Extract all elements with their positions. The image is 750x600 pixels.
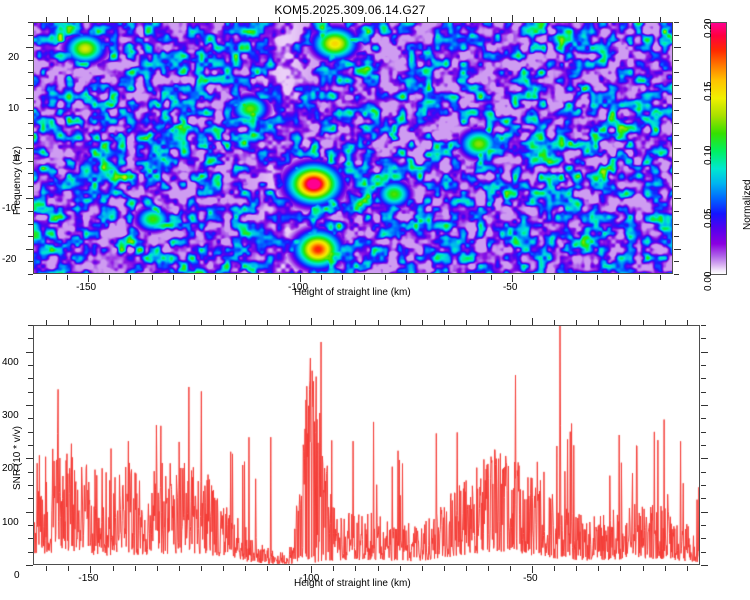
- axis-tick: [674, 173, 679, 174]
- axis-tick: [674, 186, 679, 187]
- axis-tick: [300, 275, 301, 282]
- axis-tick: [321, 275, 322, 280]
- axis-tick: [674, 198, 681, 199]
- axis-tick: [488, 320, 489, 325]
- axis-tick: [674, 161, 679, 162]
- axis-tick: [289, 566, 290, 571]
- axis-tick-label: -150: [76, 282, 96, 293]
- axis-tick: [674, 110, 679, 111]
- axis-tick: [406, 275, 407, 280]
- page-title: KOM5.2025.309.06.14.G27: [0, 3, 700, 17]
- axis-tick: [67, 275, 68, 280]
- colorbar-tick-label: 0.20: [703, 19, 714, 38]
- axis-tick: [406, 17, 407, 22]
- axis-tick: [618, 275, 619, 280]
- axis-tick: [674, 123, 679, 124]
- axis-tick: [466, 320, 467, 325]
- axis-tick: [135, 566, 136, 571]
- axis-tick: [701, 512, 708, 513]
- axis-tick-label: 400: [2, 357, 19, 368]
- axis-tick: [674, 274, 679, 275]
- axis-tick: [46, 320, 47, 325]
- axis-tick: [300, 15, 301, 22]
- axis-tick: [28, 173, 33, 174]
- axis-tick: [28, 472, 33, 473]
- axis-tick: [26, 405, 33, 406]
- axis-tick: [597, 17, 598, 22]
- axis-tick: [130, 275, 131, 280]
- axis-tick: [245, 320, 246, 325]
- axis-tick: [28, 135, 33, 136]
- axis-tick: [46, 275, 47, 280]
- axis-tick: [639, 275, 640, 280]
- axis-tick: [215, 17, 216, 22]
- axis-tick: [173, 17, 174, 22]
- axis-tick: [157, 320, 158, 325]
- axis-tick: [28, 325, 33, 326]
- axis-tick: [532, 566, 533, 573]
- axis-tick: [701, 392, 706, 393]
- axis-tick: [152, 275, 153, 280]
- axis-tick: [364, 17, 365, 22]
- axis-tick: [26, 352, 33, 353]
- axis-tick: [701, 525, 706, 526]
- axis-tick: [201, 320, 202, 325]
- axis-tick: [90, 566, 91, 573]
- axis-tick: [674, 224, 679, 225]
- axis-tick: [28, 432, 33, 433]
- axis-tick: [28, 123, 33, 124]
- spectrogram-y-axis-label: Frequency (Hz): [12, 146, 23, 215]
- axis-tick: [28, 552, 33, 553]
- axis-tick: [701, 485, 706, 486]
- axis-tick: [532, 318, 533, 325]
- axis-tick: [179, 320, 180, 325]
- axis-tick: [427, 275, 428, 280]
- axis-tick: [554, 566, 555, 571]
- axis-tick: [488, 566, 489, 571]
- axis-tick: [660, 17, 661, 22]
- axis-tick: [311, 318, 312, 325]
- axis-tick: [597, 275, 598, 280]
- snr-x-axis-label: Height of straight line (km): [294, 578, 411, 589]
- axis-tick: [28, 445, 33, 446]
- axis-tick: [701, 472, 706, 473]
- axis-tick: [533, 275, 534, 280]
- axis-tick: [26, 198, 33, 199]
- axis-tick: [28, 85, 33, 86]
- axis-tick: [620, 566, 621, 571]
- axis-tick: [215, 275, 216, 280]
- axis-tick: [355, 320, 356, 325]
- axis-tick: [88, 15, 89, 22]
- axis-tick: [701, 432, 706, 433]
- axis-tick: [28, 538, 33, 539]
- axis-tick: [701, 378, 706, 379]
- axis-tick: [618, 17, 619, 22]
- axis-tick: [109, 275, 110, 280]
- axis-tick: [26, 458, 33, 459]
- axis-tick-label: 10: [8, 103, 19, 114]
- axis-tick: [378, 320, 379, 325]
- axis-tick: [400, 320, 401, 325]
- axis-tick: [67, 17, 68, 22]
- axis-tick: [491, 275, 492, 280]
- axis-tick: [701, 445, 706, 446]
- axis-tick-label: 20: [8, 52, 19, 63]
- spectrogram-x-axis-label: Height of straight line (km): [294, 287, 411, 298]
- spectrogram-plot-area: [33, 22, 673, 274]
- axis-tick: [674, 249, 681, 250]
- axis-tick: [576, 17, 577, 22]
- axis-tick: [554, 320, 555, 325]
- axis-tick: [701, 405, 708, 406]
- axis-tick: [321, 17, 322, 22]
- colorbar-tick-label: 0.00: [703, 272, 714, 291]
- axis-tick: [576, 275, 577, 280]
- axis-tick: [512, 275, 513, 282]
- axis-tick: [194, 17, 195, 22]
- axis-tick: [665, 320, 666, 325]
- axis-tick: [289, 320, 290, 325]
- axis-tick: [660, 275, 661, 280]
- axis-tick: [28, 211, 33, 212]
- axis-tick: [701, 325, 706, 326]
- axis-tick: [643, 566, 644, 571]
- axis-tick: [701, 498, 706, 499]
- axis-tick: [201, 566, 202, 571]
- axis-tick: [333, 566, 334, 571]
- axis-tick: [674, 60, 679, 61]
- axis-tick: [28, 338, 33, 339]
- snr-plot-area: [33, 325, 700, 565]
- axis-tick: [223, 566, 224, 571]
- axis-tick: [88, 275, 89, 282]
- axis-tick: [179, 566, 180, 571]
- axis-tick: [701, 365, 706, 366]
- axis-tick: [674, 85, 679, 86]
- axis-tick: [576, 566, 577, 571]
- axis-tick: [194, 275, 195, 280]
- axis-tick: [674, 47, 681, 48]
- axis-tick: [643, 320, 644, 325]
- axis-tick: [28, 161, 33, 162]
- axis-tick-label: -20: [2, 254, 16, 265]
- axis-tick: [620, 320, 621, 325]
- axis-tick: [245, 566, 246, 571]
- axis-tick: [157, 566, 158, 571]
- axis-tick: [701, 538, 706, 539]
- axis-tick: [470, 275, 471, 280]
- axis-tick: [342, 17, 343, 22]
- colorbar-tick-label: 0.15: [703, 82, 714, 101]
- axis-tick: [68, 566, 69, 571]
- axis-tick: [448, 275, 449, 280]
- axis-tick-label: 100: [2, 517, 19, 528]
- axis-tick: [422, 320, 423, 325]
- axis-tick: [674, 261, 679, 262]
- axis-tick: [598, 566, 599, 571]
- axis-tick: [674, 72, 679, 73]
- axis-tick: [28, 224, 33, 225]
- axis-tick: [26, 47, 33, 48]
- axis-tick: [470, 17, 471, 22]
- axis-tick: [28, 392, 33, 393]
- axis-tick: [422, 566, 423, 571]
- axis-tick: [512, 15, 513, 22]
- figure-root: KOM5.2025.309.06.14.G27 20100-10-20 -150…: [0, 0, 750, 600]
- colorbar-tick-label: 0.05: [703, 208, 714, 227]
- axis-tick: [674, 22, 679, 23]
- axis-tick: [311, 566, 312, 573]
- axis-tick: [491, 17, 492, 22]
- axis-tick: [701, 458, 708, 459]
- axis-tick: [46, 566, 47, 571]
- axis-tick: [400, 566, 401, 571]
- axis-tick: [279, 17, 280, 22]
- axis-tick: [28, 236, 33, 237]
- axis-tick: [554, 275, 555, 280]
- axis-tick: [28, 525, 33, 526]
- axis-tick: [173, 275, 174, 280]
- axis-tick: [26, 565, 33, 566]
- axis-tick: [28, 60, 33, 61]
- axis-tick: [510, 566, 511, 571]
- axis-tick: [267, 566, 268, 571]
- axis-tick: [385, 275, 386, 280]
- axis-tick: [28, 22, 33, 23]
- axis-tick: [444, 320, 445, 325]
- axis-tick: [236, 17, 237, 22]
- axis-tick: [427, 17, 428, 22]
- axis-tick: [674, 148, 681, 149]
- axis-tick-label: -150: [78, 573, 98, 584]
- axis-tick: [26, 512, 33, 513]
- axis-tick: [28, 186, 33, 187]
- axis-tick-label: -50: [523, 573, 537, 584]
- axis-tick: [342, 275, 343, 280]
- axis-tick: [68, 320, 69, 325]
- axis-tick: [26, 148, 33, 149]
- axis-tick: [26, 98, 33, 99]
- axis-tick: [279, 275, 280, 280]
- axis-tick: [258, 275, 259, 280]
- axis-tick: [223, 320, 224, 325]
- axis-tick: [28, 274, 33, 275]
- axis-tick: [674, 135, 679, 136]
- axis-tick: [135, 320, 136, 325]
- axis-tick: [674, 98, 681, 99]
- axis-tick: [46, 17, 47, 22]
- axis-tick: [28, 365, 33, 366]
- axis-tick: [28, 261, 33, 262]
- axis-tick: [355, 566, 356, 571]
- axis-tick: [28, 418, 33, 419]
- axis-tick: [28, 110, 33, 111]
- axis-tick: [674, 211, 679, 212]
- axis-tick: [687, 320, 688, 325]
- colorbar-label: Normalized spectral amplitude: [742, 179, 750, 230]
- axis-tick: [130, 17, 131, 22]
- axis-tick: [109, 17, 110, 22]
- axis-tick-label: -50: [503, 282, 517, 293]
- axis-tick: [385, 17, 386, 22]
- axis-tick: [152, 17, 153, 22]
- axis-tick: [701, 352, 708, 353]
- axis-tick: [701, 565, 708, 566]
- axis-tick: [28, 35, 33, 36]
- axis-tick: [665, 566, 666, 571]
- axis-tick: [510, 320, 511, 325]
- axis-tick: [444, 566, 445, 571]
- axis-tick: [598, 320, 599, 325]
- axis-tick: [267, 320, 268, 325]
- axis-tick: [113, 566, 114, 571]
- axis-tick: [90, 318, 91, 325]
- axis-tick: [378, 566, 379, 571]
- axis-tick: [28, 72, 33, 73]
- axis-tick: [554, 17, 555, 22]
- axis-tick: [639, 17, 640, 22]
- axis-tick-label: 0: [14, 570, 20, 581]
- axis-tick: [258, 17, 259, 22]
- axis-tick: [674, 236, 679, 237]
- axis-tick: [674, 35, 679, 36]
- axis-tick: [576, 320, 577, 325]
- snr-y-axis-label: SNR (10 * v/v): [12, 426, 23, 490]
- axis-tick: [687, 566, 688, 571]
- axis-tick: [533, 17, 534, 22]
- axis-tick: [28, 378, 33, 379]
- axis-tick: [448, 17, 449, 22]
- axis-tick: [701, 338, 706, 339]
- axis-tick: [333, 320, 334, 325]
- axis-tick: [364, 275, 365, 280]
- axis-tick: [113, 320, 114, 325]
- axis-tick-label: 300: [2, 410, 19, 421]
- axis-tick: [28, 485, 33, 486]
- colorbar-tick-label: 0.10: [703, 145, 714, 164]
- axis-tick: [236, 275, 237, 280]
- axis-tick: [28, 498, 33, 499]
- axis-tick: [466, 566, 467, 571]
- axis-tick: [26, 249, 33, 250]
- axis-tick: [701, 418, 706, 419]
- axis-tick: [701, 552, 706, 553]
